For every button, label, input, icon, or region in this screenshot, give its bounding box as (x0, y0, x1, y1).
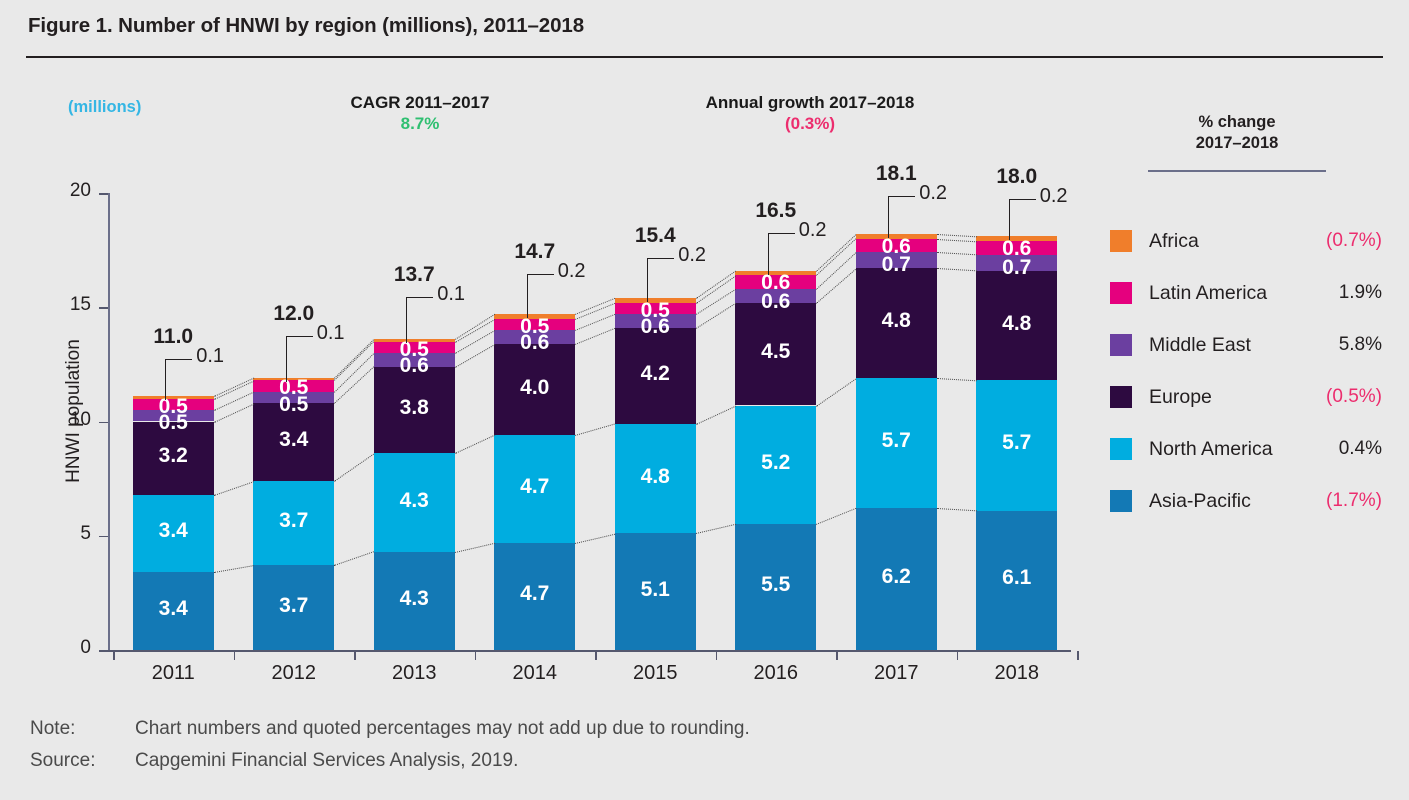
bar-segment[interactable] (976, 511, 1057, 650)
bar-segment[interactable] (976, 241, 1057, 255)
y-axis-tick-mark (99, 650, 108, 652)
series-connector-line (214, 380, 254, 399)
series-connector-line (455, 330, 495, 354)
series-connector-line (214, 565, 254, 573)
legend-color-swatch-icon (1110, 438, 1132, 460)
series-connector-line (575, 298, 615, 315)
africa-callout-label: 0.2 (919, 182, 947, 205)
y-axis-line (108, 193, 110, 651)
africa-callout-label: 0.2 (799, 219, 827, 242)
x-axis-tick-mark (234, 651, 236, 660)
legend-row[interactable]: Middle East5.8% (1110, 319, 1409, 371)
bar-segment[interactable] (615, 424, 696, 534)
series-connector-line (937, 268, 977, 271)
bar-segment[interactable] (856, 239, 937, 253)
bar-segment[interactable] (735, 524, 816, 650)
bar-segment[interactable] (253, 565, 334, 650)
note-row: Note: Chart numbers and quoted percentag… (30, 718, 750, 740)
x-axis-tick-mark (957, 651, 959, 660)
x-axis-tick-mark (595, 651, 597, 660)
pct-change-line1: % change (1148, 112, 1326, 133)
legend-color-swatch-icon (1110, 490, 1132, 512)
y-axis-tick-mark (99, 422, 108, 424)
source-key: Source: (30, 750, 135, 772)
series-connector-line (696, 275, 736, 303)
bar-segment[interactable] (615, 328, 696, 424)
series-connector-line (455, 543, 495, 553)
series-connector-line (816, 268, 856, 303)
bar-segment[interactable] (133, 399, 214, 410)
legend-label: Latin America (1149, 282, 1267, 305)
series-connector-line (937, 508, 977, 511)
legend-pct-change-value: 0.4% (1339, 438, 1382, 460)
pct-change-line2: 2017–2018 (1148, 133, 1326, 154)
africa-callout-line (165, 359, 192, 401)
bar-segment[interactable] (494, 319, 575, 330)
legend-pct-change-value: 5.8% (1339, 334, 1382, 356)
series-connector-line (696, 406, 736, 425)
africa-callout-line (286, 336, 313, 382)
y-axis-tick-label: 10 (51, 409, 91, 431)
bar-segment[interactable] (374, 367, 455, 454)
legend-row[interactable]: Asia-Pacific(1.7%) (1110, 475, 1409, 527)
bar-segment[interactable] (133, 422, 214, 495)
legend-label: Africa (1149, 230, 1199, 253)
series-connector-line (937, 234, 977, 237)
chart-legend: Africa(0.7%)Latin America1.9%Middle East… (1110, 215, 1409, 527)
bar-segment[interactable] (735, 303, 816, 406)
series-connector-line (455, 319, 495, 343)
note-text: Chart numbers and quoted percentages may… (135, 718, 750, 740)
y-axis-tick-label: 0 (51, 637, 91, 659)
bar-segment[interactable] (856, 268, 937, 378)
bar-segment[interactable] (494, 543, 575, 650)
bar-segment[interactable] (133, 572, 214, 650)
bar-group[interactable]: 3.73.73.40.50.5 (253, 0, 334, 800)
africa-callout-label: 0.1 (317, 322, 345, 345)
series-connector-line (937, 252, 977, 255)
bar-segment[interactable] (976, 255, 1057, 271)
series-connector-line (696, 524, 736, 534)
bar-segment[interactable] (374, 453, 455, 551)
y-axis-tick-mark (99, 193, 108, 195)
legend-pct-change-value: (0.7%) (1326, 230, 1382, 252)
bar-segment[interactable] (735, 289, 816, 303)
series-connector-line (575, 328, 615, 345)
bar-segment[interactable] (133, 410, 214, 421)
bar-segment[interactable] (856, 378, 937, 508)
x-axis-tick-mark (113, 651, 115, 660)
bar-segment[interactable] (133, 495, 214, 573)
africa-callout-line (1009, 199, 1036, 241)
africa-callout-line (768, 233, 795, 275)
series-connector-line (455, 314, 495, 340)
legend-pct-change-value: 1.9% (1339, 282, 1382, 304)
series-connector-line (937, 239, 977, 242)
series-connector-line (334, 453, 374, 481)
legend-color-swatch-icon (1110, 386, 1132, 408)
figure-root: Figure 1. Number of HNWI by region (mill… (0, 0, 1409, 800)
africa-callout-label: 0.2 (558, 260, 586, 283)
africa-callout-line (527, 274, 554, 318)
bar-segment[interactable] (615, 533, 696, 650)
legend-label: Europe (1149, 386, 1212, 409)
pct-change-header: % change 2017–2018 (1148, 112, 1326, 155)
africa-callout-line (406, 297, 433, 343)
x-axis-tick-mark (836, 651, 838, 660)
note-key: Note: (30, 718, 135, 740)
x-axis-tick-mark (354, 651, 356, 660)
source-text: Capgemini Financial Services Analysis, 2… (135, 750, 518, 772)
title-divider (26, 56, 1383, 58)
bar-segment[interactable] (374, 353, 455, 367)
bar-segment[interactable] (253, 392, 334, 403)
series-connector-line (455, 344, 495, 368)
legend-pct-change-value: (0.5%) (1326, 386, 1382, 408)
bar-segment[interactable] (976, 380, 1057, 510)
pct-change-divider (1148, 170, 1326, 172)
series-connector-line (575, 533, 615, 543)
bar-group[interactable]: 5.55.24.50.60.6 (735, 0, 816, 800)
legend-row[interactable]: Africa(0.7%) (1110, 215, 1409, 267)
bar-segment[interactable] (735, 406, 816, 525)
bar-segment[interactable] (976, 271, 1057, 381)
bar-segment[interactable] (253, 403, 334, 481)
africa-callout-label: 0.2 (1040, 185, 1068, 208)
series-connector-line (575, 424, 615, 436)
figure-footer: Note: Chart numbers and quoted percentag… (30, 718, 750, 782)
y-axis-tick-label: 5 (51, 523, 91, 545)
y-axis-tick-mark (99, 307, 108, 309)
legend-label: Asia-Pacific (1149, 490, 1251, 513)
x-axis-tick-mark (475, 651, 477, 660)
series-connector-line (696, 271, 736, 299)
africa-callout-label: 0.1 (437, 283, 465, 306)
legend-row[interactable]: North America0.4% (1110, 423, 1409, 475)
series-connector-line (455, 435, 495, 454)
legend-label: Middle East (1149, 334, 1251, 357)
series-connector-line (816, 378, 856, 406)
bar-segment[interactable] (856, 508, 937, 650)
africa-callout-line (888, 196, 915, 238)
legend-row[interactable]: Latin America1.9% (1110, 267, 1409, 319)
legend-pct-change-value: (1.7%) (1326, 490, 1382, 512)
africa-callout-label: 0.2 (678, 244, 706, 267)
units-label: (millions) (68, 98, 141, 117)
series-connector-line (937, 378, 977, 381)
bar-segment[interactable] (494, 435, 575, 542)
bar-segment[interactable] (735, 275, 816, 289)
bar-group[interactable]: 6.25.74.80.70.6 (856, 0, 937, 800)
y-axis-tick-label: 20 (51, 180, 91, 202)
bar-group[interactable]: 5.14.84.20.60.5 (615, 0, 696, 800)
bar-segment[interactable] (615, 303, 696, 314)
x-axis-tick-mark (716, 651, 718, 660)
y-axis-tick-mark (99, 536, 108, 538)
x-axis-tick-mark (1077, 651, 1079, 660)
legend-label: North America (1149, 438, 1273, 461)
source-row: Source: Capgemini Financial Services Ana… (30, 750, 750, 772)
bar-segment[interactable] (615, 314, 696, 328)
series-connector-line (816, 508, 856, 525)
legend-color-swatch-icon (1110, 282, 1132, 304)
bar-segment[interactable] (494, 344, 575, 435)
bar-segment[interactable] (374, 552, 455, 650)
africa-callout-line (647, 258, 674, 302)
bar-segment[interactable] (494, 330, 575, 344)
bar-group[interactable]: 4.74.74.00.60.5 (494, 0, 575, 800)
series-connector-line (334, 342, 374, 382)
y-axis-tick-label: 15 (51, 294, 91, 316)
series-connector-line (334, 552, 374, 567)
bar-segment[interactable] (253, 481, 334, 566)
legend-row[interactable]: Europe(0.5%) (1110, 371, 1409, 423)
bar-group[interactable]: 4.34.33.80.60.5 (374, 0, 455, 800)
series-connector-line (214, 392, 254, 411)
series-connector-line (214, 481, 254, 496)
bar-group[interactable]: 6.15.74.80.70.6 (976, 0, 1057, 800)
legend-color-swatch-icon (1110, 230, 1132, 252)
bar-segment[interactable] (856, 252, 937, 268)
africa-callout-label: 0.1 (196, 345, 224, 368)
series-connector-line (696, 303, 736, 329)
legend-color-swatch-icon (1110, 334, 1132, 356)
